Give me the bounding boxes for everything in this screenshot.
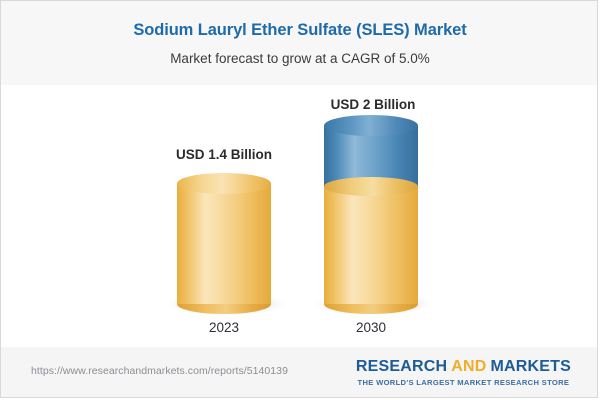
cylinder-top-ellipse-2030 bbox=[324, 115, 418, 136]
logo-tagline: THE WORLD'S LARGEST MARKET RESEARCH STOR… bbox=[356, 378, 571, 387]
source-url[interactable]: https://www.researchandmarkets.com/repor… bbox=[31, 365, 288, 377]
cylinder-base-segment-2030 bbox=[324, 183, 418, 304]
cylinder-body-2023 bbox=[177, 183, 271, 304]
chart-title: Sodium Lauryl Ether Sulfate (SLES) Marke… bbox=[1, 21, 598, 40]
logo-wordmark: RESEARCHANDMARKETS bbox=[356, 358, 571, 376]
brand-logo[interactable]: RESEARCHANDMARKETS THE WORLD'S LARGEST M… bbox=[356, 358, 571, 387]
chart-subtitle: Market forecast to grow at a CAGR of 5.0… bbox=[1, 51, 598, 66]
logo-word-and: AND bbox=[451, 358, 486, 375]
bar-value-label-2023: USD 1.4 Billion bbox=[134, 147, 314, 162]
cylinder-segment-seam-2030 bbox=[324, 177, 418, 196]
chart-card: Sodium Lauryl Ether Sulfate (SLES) Marke… bbox=[0, 0, 598, 398]
bar-value-label-2030: USD 2 Billion bbox=[283, 97, 463, 112]
logo-word-research: RESEARCH bbox=[356, 358, 447, 375]
bar-category-label-2030: 2030 bbox=[281, 320, 461, 335]
plot-area bbox=[1, 85, 598, 347]
logo-word-markets: MARKETS bbox=[490, 358, 571, 375]
cylinder-top-ellipse-2023 bbox=[177, 173, 271, 194]
header-band bbox=[1, 1, 598, 85]
